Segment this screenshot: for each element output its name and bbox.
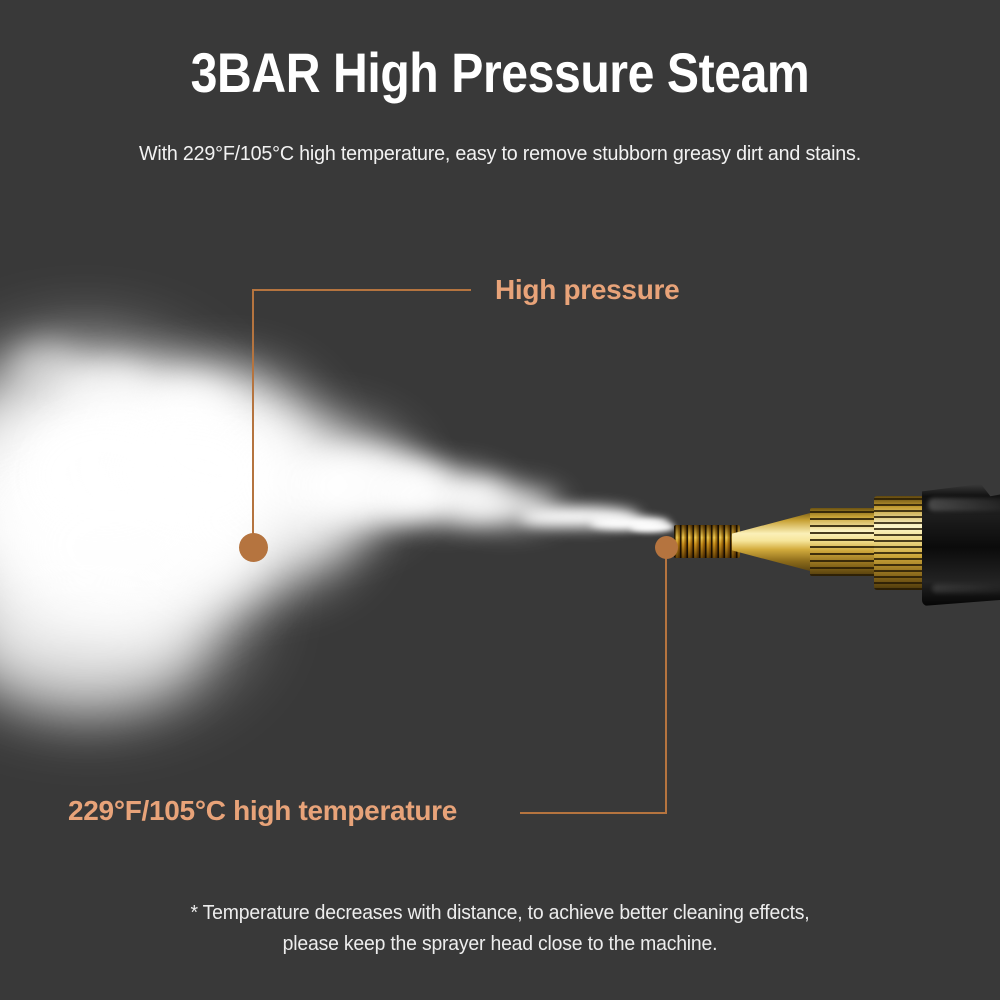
pressure-callout-dot (239, 533, 268, 562)
housing-highlight-lower (932, 584, 1000, 593)
nozzle-cone (732, 512, 814, 572)
footnote-line-1: * Temperature decreases with distance, t… (15, 898, 985, 929)
nozzle-knurled-collar (874, 496, 930, 590)
brass-nozzle (660, 472, 1000, 632)
page-title: 3BAR High Pressure Steam (70, 44, 930, 103)
temperature-callout-horizontal-line (520, 812, 667, 814)
page-subtitle: With 229°F/105°C high temperature, easy … (20, 142, 980, 166)
pressure-callout-label: High pressure (495, 274, 679, 306)
nozzle-thread (674, 525, 740, 558)
product-feature-banner: 3BAR High Pressure Steam With 229°F/105°… (0, 0, 1000, 1000)
footnote: * Temperature decreases with distance, t… (15, 898, 985, 960)
nozzle-barrel (810, 508, 878, 576)
footnote-line-2: please keep the sprayer head close to th… (15, 929, 985, 960)
housing-highlight (928, 498, 1000, 511)
pressure-callout-vertical-line (252, 289, 254, 547)
temperature-callout-label: 229°F/105°C high temperature (68, 795, 457, 827)
pressure-callout-horizontal-line (252, 289, 471, 291)
steam-plume (0, 330, 700, 750)
temperature-callout-vertical-line (665, 556, 667, 814)
